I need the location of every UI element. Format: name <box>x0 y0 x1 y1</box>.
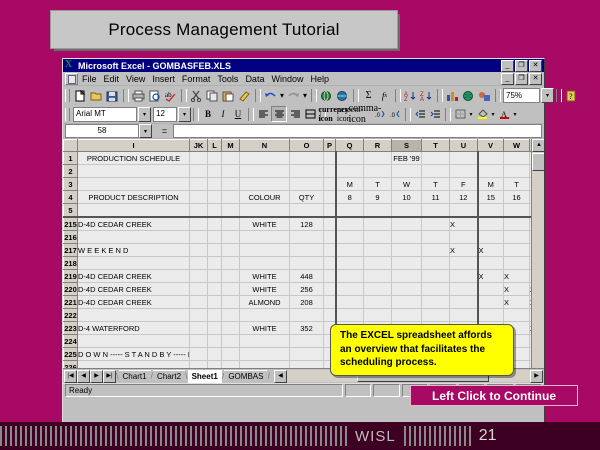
cell-M216[interactable] <box>222 231 240 244</box>
cell-O224[interactable] <box>290 335 324 348</box>
cell-JK4[interactable] <box>190 191 208 204</box>
cell-W5[interactable] <box>504 204 530 218</box>
cell-M219[interactable] <box>222 270 240 283</box>
cell-S5[interactable] <box>392 204 422 218</box>
equals-icon[interactable]: = <box>158 125 171 137</box>
row-header-220[interactable]: 220 <box>64 283 78 296</box>
cell-L2[interactable] <box>208 165 222 178</box>
col-header-V[interactable]: V <box>478 140 504 152</box>
cell-U217[interactable]: X <box>450 244 478 257</box>
cell-Q219[interactable] <box>336 270 364 283</box>
cell-L217[interactable] <box>208 244 222 257</box>
cell-W215[interactable] <box>504 217 530 231</box>
cell-T4[interactable]: 11 <box>422 191 450 204</box>
cell-N217[interactable] <box>240 244 290 257</box>
restore-button[interactable]: ❐ <box>515 60 528 72</box>
cell-R215[interactable] <box>364 217 392 231</box>
cell-O220[interactable]: 256 <box>290 283 324 296</box>
cut-icon[interactable] <box>189 89 204 103</box>
row-header-217[interactable]: 217 <box>64 244 78 257</box>
cell-I223[interactable]: D-4 WATERFORD <box>78 322 190 335</box>
cell-L222[interactable] <box>208 309 222 322</box>
cell-W221[interactable]: X <box>504 296 530 309</box>
cell-L226[interactable] <box>208 361 222 369</box>
cell-M218[interactable] <box>222 257 240 270</box>
cell-P5[interactable] <box>324 204 336 218</box>
cell-V3[interactable]: M <box>478 178 504 191</box>
cell-V222[interactable] <box>478 309 504 322</box>
cell-JK3[interactable] <box>190 178 208 191</box>
font-color-dropdown-icon[interactable]: ▾ <box>512 107 518 121</box>
name-box[interactable]: 58 <box>65 124 139 138</box>
cell-I226[interactable] <box>78 361 190 369</box>
doc-restore-button[interactable]: ❐ <box>515 73 528 85</box>
align-left-icon[interactable] <box>256 107 270 121</box>
cell-S222[interactable] <box>392 309 422 322</box>
cell-S1[interactable]: FEB '99 <box>392 152 422 165</box>
cell-T222[interactable] <box>422 309 450 322</box>
cell-S219[interactable] <box>392 270 422 283</box>
cell-T5[interactable] <box>422 204 450 218</box>
borders-icon[interactable] <box>453 107 467 121</box>
cell-M220[interactable] <box>222 283 240 296</box>
menu-window[interactable]: Window <box>271 74 303 84</box>
row-header-5[interactable]: 5 <box>64 204 78 218</box>
fill-color-icon[interactable] <box>475 107 489 121</box>
cell-V4[interactable]: 15 <box>478 191 504 204</box>
cell-P221[interactable] <box>324 296 336 309</box>
font-size-dropdown-icon[interactable]: ▾ <box>178 107 191 122</box>
cell-O226[interactable] <box>290 361 324 369</box>
cell-M222[interactable] <box>222 309 240 322</box>
decrease-decimal-icon[interactable]: .0 <box>388 107 402 121</box>
cell-N5[interactable] <box>240 204 290 218</box>
prev-sheet-icon[interactable]: ◀ <box>77 370 90 383</box>
menu-file[interactable]: File <box>82 74 97 84</box>
borders-dropdown-icon[interactable]: ▾ <box>468 107 474 121</box>
menu-help[interactable]: Help <box>310 74 329 84</box>
cell-JK226[interactable] <box>190 361 208 369</box>
cell-R2[interactable] <box>364 165 392 178</box>
drawing-icon[interactable] <box>477 89 492 103</box>
sheet-tab-chart1[interactable]: Chart1 <box>119 370 151 383</box>
cell-JK216[interactable] <box>190 231 208 244</box>
cell-Q5[interactable] <box>336 204 364 218</box>
cell-O215[interactable]: 128 <box>290 217 324 231</box>
cell-JK225[interactable] <box>190 348 208 361</box>
hyperlink-icon[interactable] <box>319 89 334 103</box>
cell-Q222[interactable] <box>336 309 364 322</box>
cell-N1[interactable] <box>240 152 290 165</box>
cell-S4[interactable]: 10 <box>392 191 422 204</box>
cell-P217[interactable] <box>324 244 336 257</box>
cell-T217[interactable] <box>422 244 450 257</box>
cell-N222[interactable] <box>240 309 290 322</box>
cell-JK218[interactable] <box>190 257 208 270</box>
cell-P218[interactable] <box>324 257 336 270</box>
cell-JK217[interactable] <box>190 244 208 257</box>
col-header-JK[interactable]: JK <box>190 140 208 152</box>
cell-U222[interactable] <box>450 309 478 322</box>
cell-N215[interactable]: WHITE <box>240 217 290 231</box>
minimize-button[interactable]: _ <box>501 60 514 72</box>
cell-M1[interactable] <box>222 152 240 165</box>
row-header-215[interactable]: 215 <box>64 217 78 231</box>
cell-W3[interactable]: T <box>504 178 530 191</box>
cell-N216[interactable] <box>240 231 290 244</box>
cell-N219[interactable]: WHITE <box>240 270 290 283</box>
sheet-tab-gombas[interactable]: GOMBAS <box>224 370 267 383</box>
cell-S220[interactable] <box>392 283 422 296</box>
cell-P222[interactable] <box>324 309 336 322</box>
cell-S217[interactable] <box>392 244 422 257</box>
map-icon[interactable] <box>461 89 476 103</box>
cell-I4[interactable]: PRODUCT DESCRIPTION <box>78 191 190 204</box>
zoom-dropdown-icon[interactable]: ▾ <box>541 88 554 103</box>
cell-M225[interactable] <box>222 348 240 361</box>
cell-I2[interactable] <box>78 165 190 178</box>
menu-insert[interactable]: Insert <box>152 74 175 84</box>
cell-I1[interactable]: PRODUCTION SCHEDULE <box>78 152 190 165</box>
cell-P220[interactable] <box>324 283 336 296</box>
col-header-T[interactable]: T <box>422 140 450 152</box>
cell-R216[interactable] <box>364 231 392 244</box>
cell-L1[interactable] <box>208 152 222 165</box>
cell-O218[interactable] <box>290 257 324 270</box>
undo-icon[interactable] <box>263 89 278 103</box>
col-header-S[interactable]: S <box>392 140 422 152</box>
cell-P3[interactable] <box>324 178 336 191</box>
cell-N218[interactable] <box>240 257 290 270</box>
cell-R220[interactable] <box>364 283 392 296</box>
cell-O221[interactable]: 208 <box>290 296 324 309</box>
help-icon[interactable]: ? <box>564 89 579 103</box>
cell-N224[interactable] <box>240 335 290 348</box>
cell-R1[interactable] <box>364 152 392 165</box>
row-header-218[interactable]: 218 <box>64 257 78 270</box>
cell-V219[interactable]: X <box>478 270 504 283</box>
cell-R4[interactable]: 9 <box>364 191 392 204</box>
first-sheet-icon[interactable]: |◀ <box>64 370 77 383</box>
cell-N4[interactable]: COLOUR <box>240 191 290 204</box>
cell-U5[interactable] <box>450 204 478 218</box>
cell-R221[interactable] <box>364 296 392 309</box>
web-toolbar-icon[interactable] <box>335 89 350 103</box>
undo-dropdown-icon[interactable]: ▾ <box>279 89 285 103</box>
new-icon[interactable] <box>73 89 88 103</box>
hscroll-right-icon[interactable]: ▶ <box>530 370 543 383</box>
cell-I221[interactable]: D-4D CEDAR CREEK <box>78 296 190 309</box>
cell-U221[interactable] <box>450 296 478 309</box>
increase-decimal-icon[interactable]: .0 <box>373 107 387 121</box>
cell-O4[interactable]: QTY <box>290 191 324 204</box>
cell-I225[interactable]: D O W N ----- S T A N D B Y ----- D4 <box>78 348 190 361</box>
fill-color-dropdown-icon[interactable]: ▾ <box>490 107 496 121</box>
cell-O1[interactable] <box>290 152 324 165</box>
font-name-dropdown-icon[interactable]: ▾ <box>138 107 151 122</box>
cell-Q215[interactable] <box>336 217 364 231</box>
print-preview-icon[interactable] <box>147 89 162 103</box>
col-header-L[interactable]: L <box>208 140 222 152</box>
next-sheet-icon[interactable]: ▶ <box>90 370 103 383</box>
cell-JK1[interactable] <box>190 152 208 165</box>
menu-data[interactable]: Data <box>245 74 264 84</box>
cell-JK219[interactable] <box>190 270 208 283</box>
cell-S3[interactable]: W <box>392 178 422 191</box>
row-header-219[interactable]: 219 <box>64 270 78 283</box>
cell-L5[interactable] <box>208 204 222 218</box>
row-header-224[interactable]: 224 <box>64 335 78 348</box>
cell-Q3[interactable]: M <box>336 178 364 191</box>
cell-V5[interactable] <box>478 204 504 218</box>
menu-tools[interactable]: Tools <box>217 74 238 84</box>
col-header-M[interactable]: M <box>222 140 240 152</box>
cell-JK2[interactable] <box>190 165 208 178</box>
sort-ascending-icon[interactable]: AZ <box>403 89 418 103</box>
cell-T2[interactable] <box>422 165 450 178</box>
cell-JK221[interactable] <box>190 296 208 309</box>
cell-I222[interactable] <box>78 309 190 322</box>
menu-edit[interactable]: Edit <box>104 74 120 84</box>
hscroll-left-icon[interactable]: ◀ <box>274 370 287 383</box>
cell-O219[interactable]: 448 <box>290 270 324 283</box>
cell-P4[interactable] <box>324 191 336 204</box>
close-button[interactable]: ✕ <box>529 60 542 72</box>
cell-S215[interactable] <box>392 217 422 231</box>
cell-P2[interactable] <box>324 165 336 178</box>
cell-O222[interactable] <box>290 309 324 322</box>
open-icon[interactable] <box>89 89 104 103</box>
cell-R222[interactable] <box>364 309 392 322</box>
cell-V1[interactable] <box>478 152 504 165</box>
cell-U218[interactable] <box>450 257 478 270</box>
cell-I217[interactable]: W E E K E N D <box>78 244 190 257</box>
cell-R217[interactable] <box>364 244 392 257</box>
select-all-corner[interactable] <box>64 140 78 152</box>
cell-Q220[interactable] <box>336 283 364 296</box>
cell-L4[interactable] <box>208 191 222 204</box>
cell-JK222[interactable] <box>190 309 208 322</box>
cell-M223[interactable] <box>222 322 240 335</box>
cell-V2[interactable] <box>478 165 504 178</box>
cell-T220[interactable] <box>422 283 450 296</box>
cell-I215[interactable]: D-4D CEDAR CREEK <box>78 217 190 231</box>
col-header-Q[interactable]: Q <box>336 140 364 152</box>
cell-Q217[interactable] <box>336 244 364 257</box>
cell-W217[interactable] <box>504 244 530 257</box>
menu-format[interactable]: Format <box>182 74 211 84</box>
font-size-box[interactable]: 12 <box>153 107 177 122</box>
row-header-2[interactable]: 2 <box>64 165 78 178</box>
save-icon[interactable] <box>105 89 120 103</box>
sort-descending-icon[interactable]: ZA <box>419 89 434 103</box>
font-color-icon[interactable]: A <box>497 107 511 121</box>
cell-M4[interactable] <box>222 191 240 204</box>
cell-L221[interactable] <box>208 296 222 309</box>
comma-icon[interactable]: comma-icon <box>358 107 372 121</box>
cell-V220[interactable] <box>478 283 504 296</box>
row-header-222[interactable]: 222 <box>64 309 78 322</box>
cell-S218[interactable] <box>392 257 422 270</box>
cell-L224[interactable] <box>208 335 222 348</box>
cell-V215[interactable] <box>478 217 504 231</box>
cell-T221[interactable] <box>422 296 450 309</box>
cell-L215[interactable] <box>208 217 222 231</box>
cell-R218[interactable] <box>364 257 392 270</box>
cell-N220[interactable]: WHITE <box>240 283 290 296</box>
cell-P1[interactable] <box>324 152 336 165</box>
cell-V217[interactable]: X <box>478 244 504 257</box>
cell-T3[interactable]: T <box>422 178 450 191</box>
cell-N225[interactable] <box>240 348 290 361</box>
cell-I220[interactable]: D-4D CEDAR CREEK <box>78 283 190 296</box>
cell-M224[interactable] <box>222 335 240 348</box>
cell-N226[interactable] <box>240 361 290 369</box>
autosum-icon[interactable]: Σ <box>361 89 376 103</box>
cell-O216[interactable] <box>290 231 324 244</box>
cell-S221[interactable] <box>392 296 422 309</box>
cell-U3[interactable]: F <box>450 178 478 191</box>
print-icon[interactable] <box>131 89 146 103</box>
last-sheet-icon[interactable]: ▶| <box>103 370 116 383</box>
cell-I216[interactable] <box>78 231 190 244</box>
cell-I224[interactable] <box>78 335 190 348</box>
document-icon[interactable] <box>65 73 78 85</box>
row-header-226[interactable]: 226 <box>64 361 78 369</box>
toolbar-grip[interactable] <box>65 108 70 121</box>
cell-N3[interactable] <box>240 178 290 191</box>
cell-M226[interactable] <box>222 361 240 369</box>
cell-Q218[interactable] <box>336 257 364 270</box>
cell-S2[interactable] <box>392 165 422 178</box>
cell-V218[interactable] <box>478 257 504 270</box>
cell-M217[interactable] <box>222 244 240 257</box>
col-header-P[interactable]: P <box>324 140 336 152</box>
cell-T219[interactable] <box>422 270 450 283</box>
toolbar-grip[interactable] <box>65 89 70 102</box>
doc-close-button[interactable]: ✕ <box>529 73 542 85</box>
col-header-N[interactable]: N <box>240 140 290 152</box>
cell-W222[interactable] <box>504 309 530 322</box>
cell-W219[interactable]: X <box>504 270 530 283</box>
cell-W216[interactable] <box>504 231 530 244</box>
col-header-O[interactable]: O <box>290 140 324 152</box>
cell-O225[interactable] <box>290 348 324 361</box>
cell-O223[interactable]: 352 <box>290 322 324 335</box>
cell-JK5[interactable] <box>190 204 208 218</box>
cell-U1[interactable] <box>450 152 478 165</box>
cell-O3[interactable] <box>290 178 324 191</box>
cell-U219[interactable] <box>450 270 478 283</box>
cell-T215[interactable] <box>422 217 450 231</box>
col-header-R[interactable]: R <box>364 140 392 152</box>
row-header-4[interactable]: 4 <box>64 191 78 204</box>
cell-M221[interactable] <box>222 296 240 309</box>
cell-U220[interactable] <box>450 283 478 296</box>
cell-I219[interactable]: D-4D CEDAR CREEK <box>78 270 190 283</box>
cell-O2[interactable] <box>290 165 324 178</box>
cell-W220[interactable]: X <box>504 283 530 296</box>
cell-L218[interactable] <box>208 257 222 270</box>
cell-V216[interactable] <box>478 231 504 244</box>
left-click-to-continue-button[interactable]: Left Click to Continue <box>410 385 578 406</box>
cell-P219[interactable] <box>324 270 336 283</box>
bold-button[interactable]: B <box>201 107 215 121</box>
cell-I5[interactable] <box>78 204 190 218</box>
cell-L220[interactable] <box>208 283 222 296</box>
col-header-U[interactable]: U <box>450 140 478 152</box>
increase-indent-icon[interactable] <box>428 107 442 121</box>
align-center-icon[interactable] <box>271 106 287 122</box>
col-header-I[interactable]: I <box>78 140 190 152</box>
cell-L225[interactable] <box>208 348 222 361</box>
cell-JK223[interactable] <box>190 322 208 335</box>
menu-view[interactable]: View <box>126 74 145 84</box>
col-header-W[interactable]: W <box>504 140 530 152</box>
italic-button[interactable]: I <box>216 107 230 121</box>
cell-U216[interactable] <box>450 231 478 244</box>
row-header-1[interactable]: 1 <box>64 152 78 165</box>
sheet-tab-sheet1[interactable]: Sheet1 <box>188 370 222 383</box>
cell-S216[interactable] <box>392 231 422 244</box>
cell-T1[interactable] <box>422 152 450 165</box>
cell-I218[interactable] <box>78 257 190 270</box>
cell-R5[interactable] <box>364 204 392 218</box>
cell-JK215[interactable] <box>190 217 208 231</box>
cell-Q216[interactable] <box>336 231 364 244</box>
cell-L223[interactable] <box>208 322 222 335</box>
cell-U215[interactable]: X <box>450 217 478 231</box>
redo-dropdown-icon[interactable]: ▾ <box>302 89 308 103</box>
decrease-indent-icon[interactable] <box>413 107 427 121</box>
formula-input[interactable] <box>173 124 542 138</box>
cell-P215[interactable] <box>324 217 336 231</box>
cell-JK220[interactable] <box>190 283 208 296</box>
cell-U2[interactable] <box>450 165 478 178</box>
cell-M5[interactable] <box>222 204 240 218</box>
cell-M3[interactable] <box>222 178 240 191</box>
merge-center-icon[interactable] <box>303 107 317 121</box>
cell-U4[interactable]: 12 <box>450 191 478 204</box>
doc-minimize-button[interactable]: _ <box>501 73 514 85</box>
cell-W2[interactable] <box>504 165 530 178</box>
row-header-225[interactable]: 225 <box>64 348 78 361</box>
cell-R219[interactable] <box>364 270 392 283</box>
cell-T218[interactable] <box>422 257 450 270</box>
cell-M215[interactable] <box>222 217 240 231</box>
cell-I3[interactable] <box>78 178 190 191</box>
sheet-tab-chart2[interactable]: Chart2 <box>153 370 185 383</box>
vertical-scrollbar[interactable]: ▲ <box>531 139 544 368</box>
scroll-up-icon[interactable]: ▲ <box>532 139 544 152</box>
cell-L219[interactable] <box>208 270 222 283</box>
row-header-3[interactable]: 3 <box>64 178 78 191</box>
zoom-value[interactable]: 75% <box>503 88 540 103</box>
align-right-icon[interactable] <box>288 107 302 121</box>
chart-wizard-icon[interactable] <box>445 89 460 103</box>
cell-Q2[interactable] <box>336 165 364 178</box>
cell-N223[interactable]: WHITE <box>240 322 290 335</box>
cell-N221[interactable]: ALMOND <box>240 296 290 309</box>
cell-O5[interactable] <box>290 204 324 218</box>
redo-icon[interactable] <box>286 89 301 103</box>
cell-R3[interactable]: T <box>364 178 392 191</box>
cell-W1[interactable] <box>504 152 530 165</box>
cell-N2[interactable] <box>240 165 290 178</box>
cell-M2[interactable] <box>222 165 240 178</box>
row-header-221[interactable]: 221 <box>64 296 78 309</box>
paste-icon[interactable] <box>221 89 236 103</box>
